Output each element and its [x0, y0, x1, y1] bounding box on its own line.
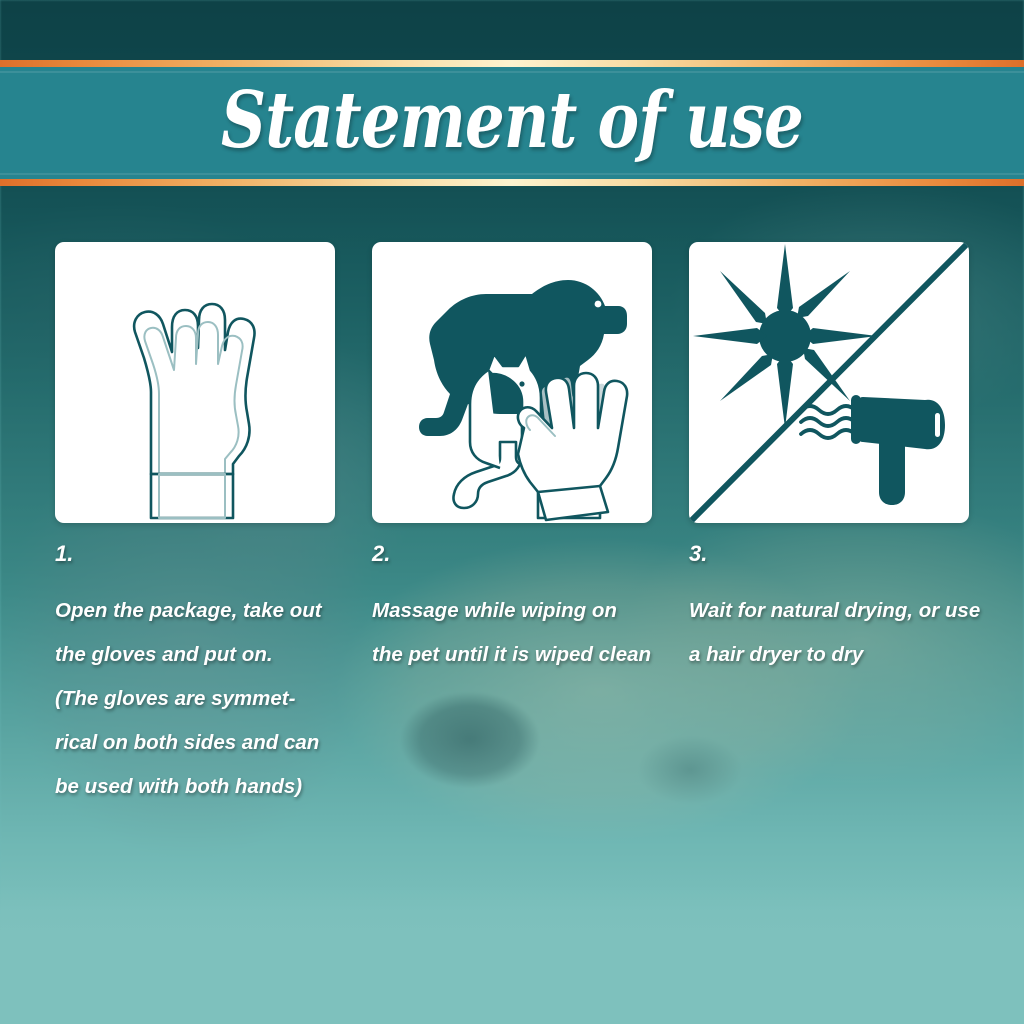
step-card-3 [689, 242, 969, 523]
glove-icon [55, 242, 335, 523]
step-text-3: Wait for natural drying, or use a hair d… [689, 589, 989, 677]
step-captions: 1. Open the package, take out the gloves… [55, 543, 1015, 809]
pet-massage-icon [372, 242, 652, 523]
background-bottom-fade [0, 884, 1024, 1024]
caption-1: 1. Open the package, take out the gloves… [55, 543, 335, 809]
step-card-2 [372, 242, 652, 523]
step-number-3: 3. [689, 543, 989, 565]
sun-icon [693, 244, 877, 428]
step-text-1: Open the package, take out the gloves an… [55, 589, 335, 809]
caption-2: 2. Massage while wiping on the pet until… [372, 543, 652, 809]
step-card-1 [55, 242, 335, 523]
sun-hairdryer-icon [689, 242, 969, 523]
airflow-waves [801, 406, 855, 438]
title-banner: Statement of use [0, 60, 1024, 186]
caption-3: 3. Wait for natural drying, or use a hai… [689, 543, 989, 809]
step-text-2: Massage while wiping on the pet until it… [372, 589, 652, 677]
statement-of-use-poster: Statement of use [0, 0, 1024, 1024]
hair-dryer-icon [851, 395, 945, 505]
step-icon-cards [55, 242, 970, 523]
page-title: Statement of use [102, 60, 921, 186]
step-number-1: 1. [55, 543, 335, 565]
step-number-2: 2. [372, 543, 652, 565]
